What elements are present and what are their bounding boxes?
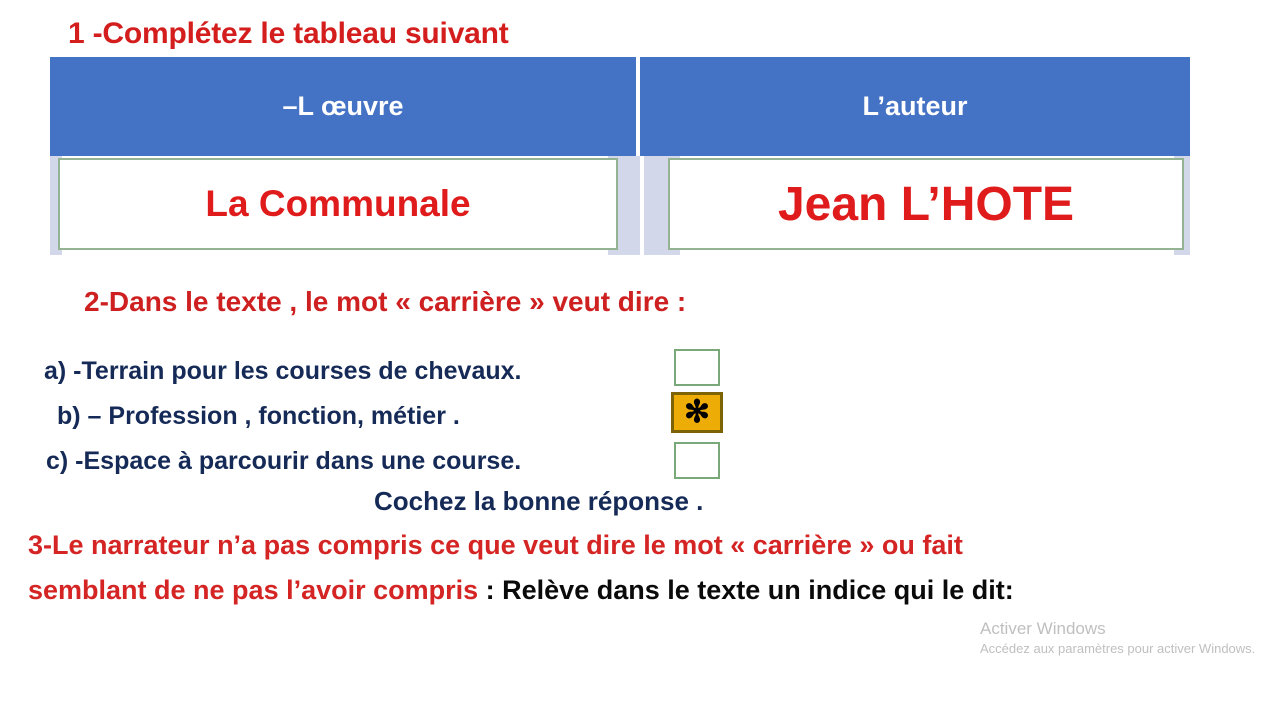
- windows-activation-watermark: Activer Windows Accédez aux paramètres p…: [980, 618, 1255, 658]
- question-3-line-2-black: : Relève dans le texte un indice qui le …: [478, 575, 1014, 605]
- watermark-subtitle: Accédez aux paramètres pour activer Wind…: [980, 640, 1255, 658]
- question-2-instruction: Cochez la bonne réponse .: [374, 486, 703, 517]
- table-header-oeuvre-label: –L œuvre: [282, 91, 403, 122]
- oeuvre-auteur-table: –L œuvre L’auteur La Communale Jean L’HO…: [50, 57, 1190, 259]
- table-header-cell-auteur: L’auteur: [640, 57, 1190, 156]
- table-header-auteur-label: L’auteur: [862, 91, 967, 122]
- answer-option-c-label: c) -Espace à parcourir dans une course.: [46, 447, 521, 476]
- asterisk-icon: ✻: [684, 396, 710, 427]
- question-3-line-1: 3-Le narrateur n’a pas compris ce que ve…: [28, 530, 963, 561]
- table-cell-oeuvre: La Communale: [58, 158, 618, 250]
- question-1-title: 1 -Complétez le tableau suivant: [68, 17, 509, 51]
- table-cell-auteur: Jean L’HOTE: [668, 158, 1184, 250]
- watermark-title: Activer Windows: [980, 618, 1255, 640]
- answer-option-c: c) -Espace à parcourir dans une course.: [46, 441, 521, 481]
- answer-option-b: b) – Profession , fonction, métier .: [57, 396, 460, 436]
- answer-checkbox-c[interactable]: [674, 442, 720, 479]
- answer-option-a-label: a) -Terrain pour les courses de chevaux.: [44, 357, 522, 386]
- table-cell-auteur-value: Jean L’HOTE: [778, 177, 1074, 232]
- question-2-title: 2-Dans le texte , le mot « carrière » ve…: [84, 286, 686, 318]
- question-3-line-2-red: semblant de ne pas l’avoir compris: [28, 575, 478, 605]
- answer-checkbox-a[interactable]: [674, 349, 720, 386]
- table-header-cell-oeuvre: –L œuvre: [50, 57, 636, 156]
- table-cell-oeuvre-value: La Communale: [205, 183, 470, 225]
- table-body-row: La Communale Jean L’HOTE: [50, 156, 1190, 259]
- table-middle-divider: [640, 156, 644, 255]
- question-3-line-2: semblant de ne pas l’avoir compris : Rel…: [28, 575, 1014, 606]
- answer-option-b-label: b) – Profession , fonction, métier .: [57, 402, 460, 431]
- answer-option-a: a) -Terrain pour les courses de chevaux.: [44, 351, 522, 391]
- table-header-row: –L œuvre L’auteur: [50, 57, 1190, 156]
- answer-checkbox-b-checked[interactable]: ✻: [671, 392, 723, 433]
